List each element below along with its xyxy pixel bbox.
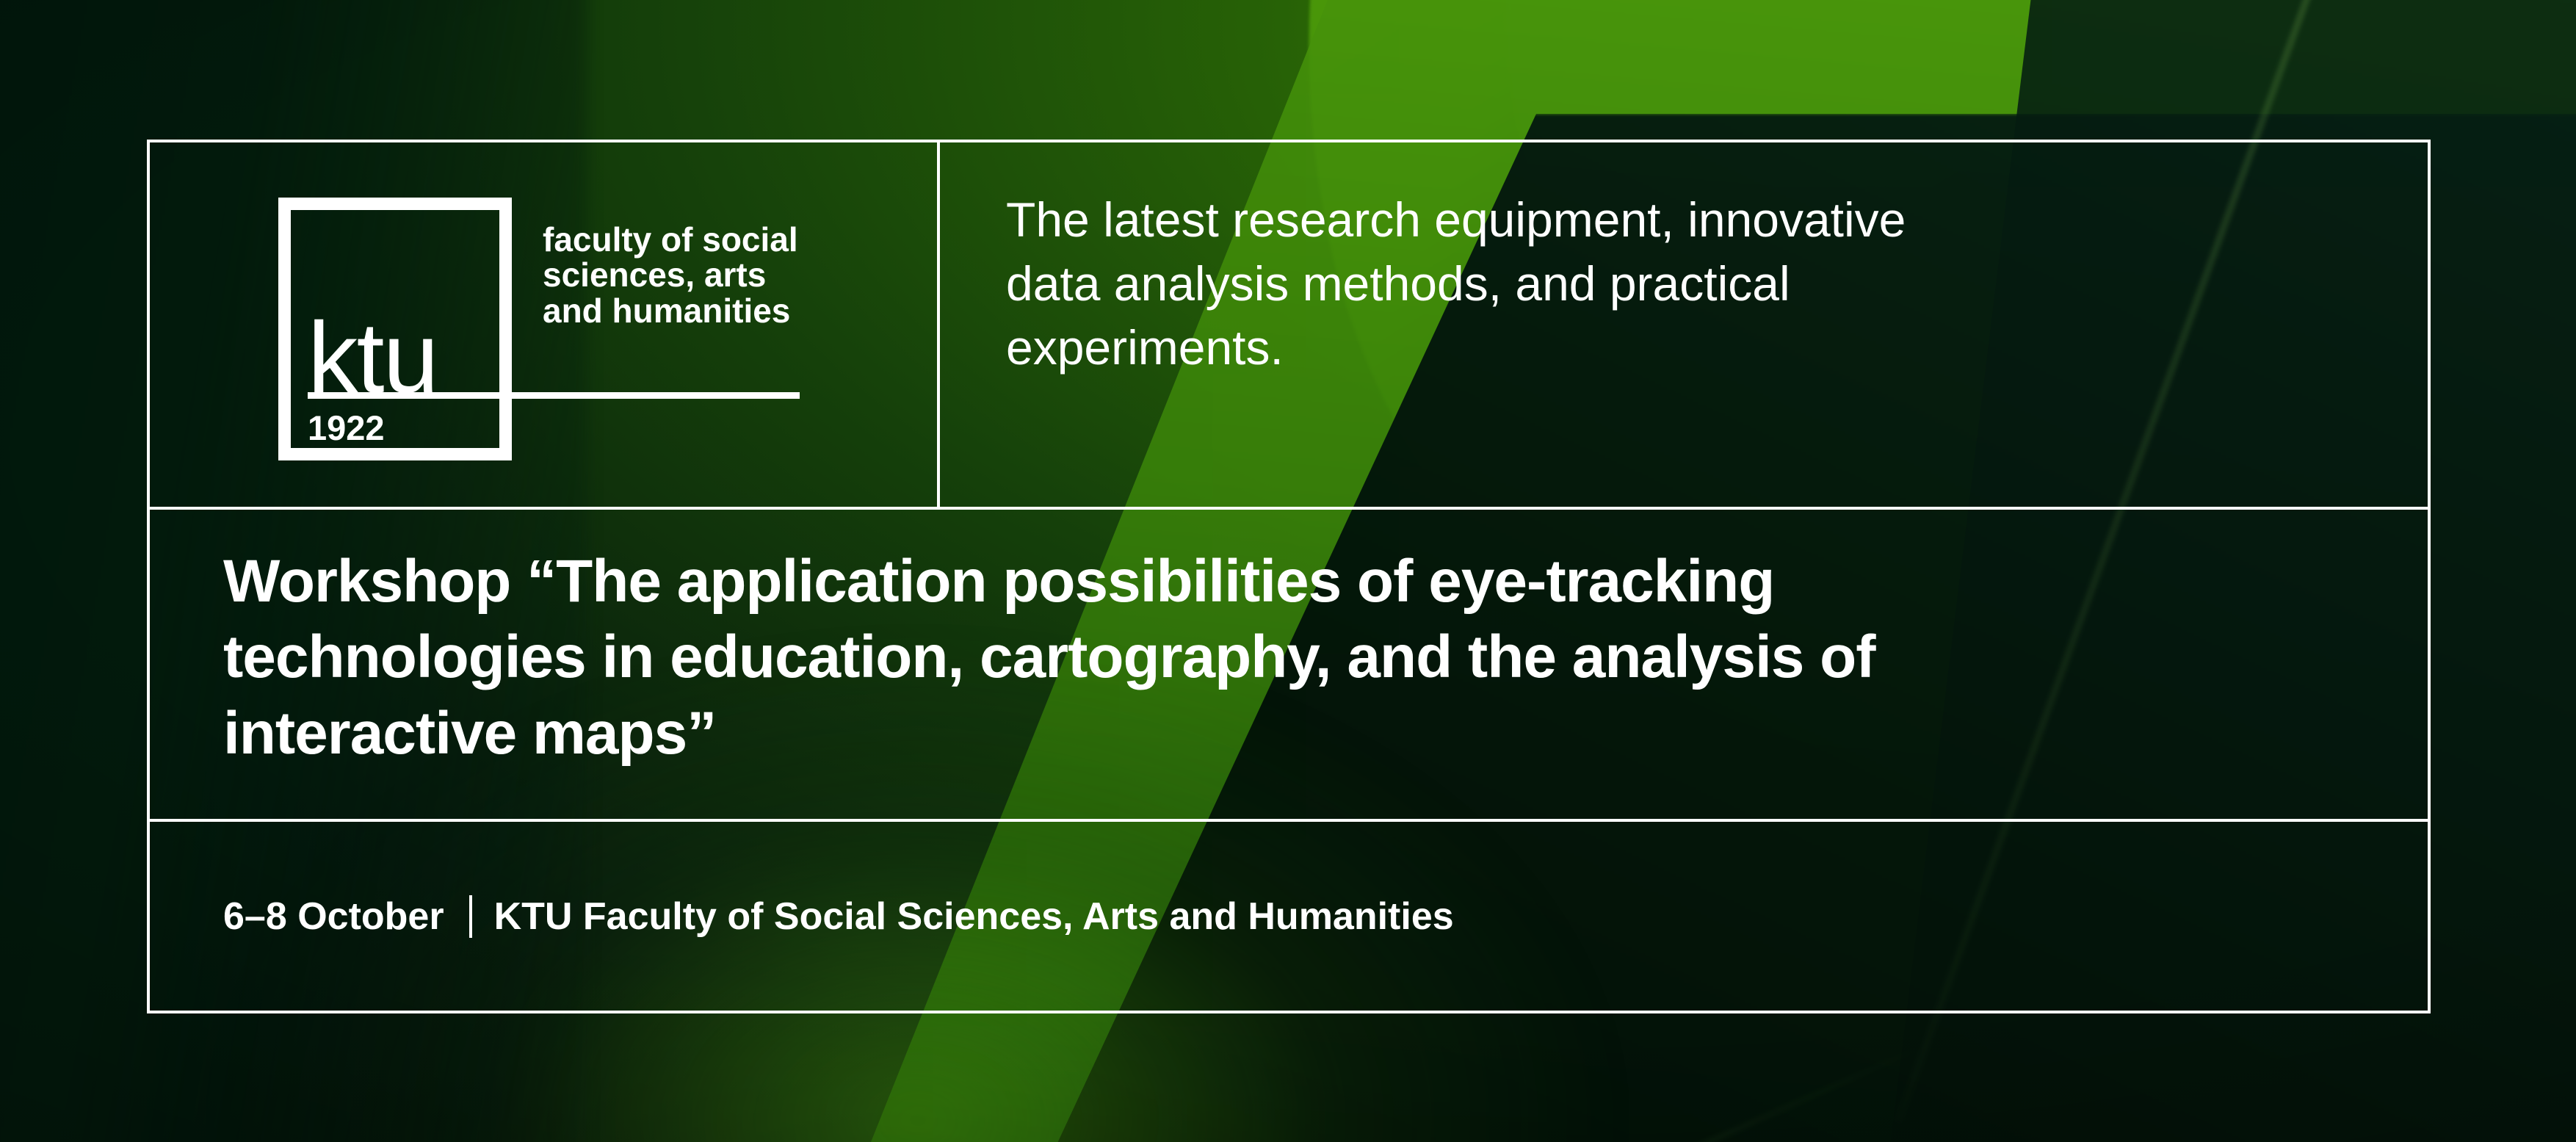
title-row: Workshop “The application possibilities …: [150, 510, 2428, 822]
header-row: ktu 1922 faculty of social sciences, art…: [150, 142, 2428, 510]
logo-faculty-name: faculty of social sciences, arts and hum…: [543, 222, 858, 328]
meta-row: 6–8 October KTU Faculty of Social Scienc…: [150, 822, 2428, 1011]
poster-banner: ktu 1922 faculty of social sciences, art…: [0, 0, 2576, 1142]
logo-faculty-line-2: sciences, arts: [543, 257, 858, 292]
logo-founding-year: 1922: [308, 411, 385, 445]
event-venue: KTU Faculty of Social Sciences, Arts and…: [494, 895, 1454, 939]
logo-cell: ktu 1922 faculty of social sciences, art…: [150, 142, 940, 507]
meta-separator-icon: [469, 895, 472, 938]
page-title: Workshop “The application possibilities …: [223, 543, 2362, 771]
logo-faculty-line-1: faculty of social: [543, 222, 858, 257]
content-frame: ktu 1922 faculty of social sciences, art…: [147, 140, 2431, 1013]
logo-divider-rule: [308, 392, 800, 399]
logo-faculty-line-3: and humanities: [543, 293, 858, 328]
event-dates: 6–8 October: [223, 895, 444, 939]
intro-cell: The latest research equipment, innovativ…: [940, 142, 2428, 507]
event-meta: 6–8 October KTU Faculty of Social Scienc…: [223, 895, 1454, 939]
intro-text: The latest research equipment, innovativ…: [1006, 188, 2376, 380]
ktu-logo: ktu 1922 faculty of social sciences, art…: [278, 198, 866, 462]
